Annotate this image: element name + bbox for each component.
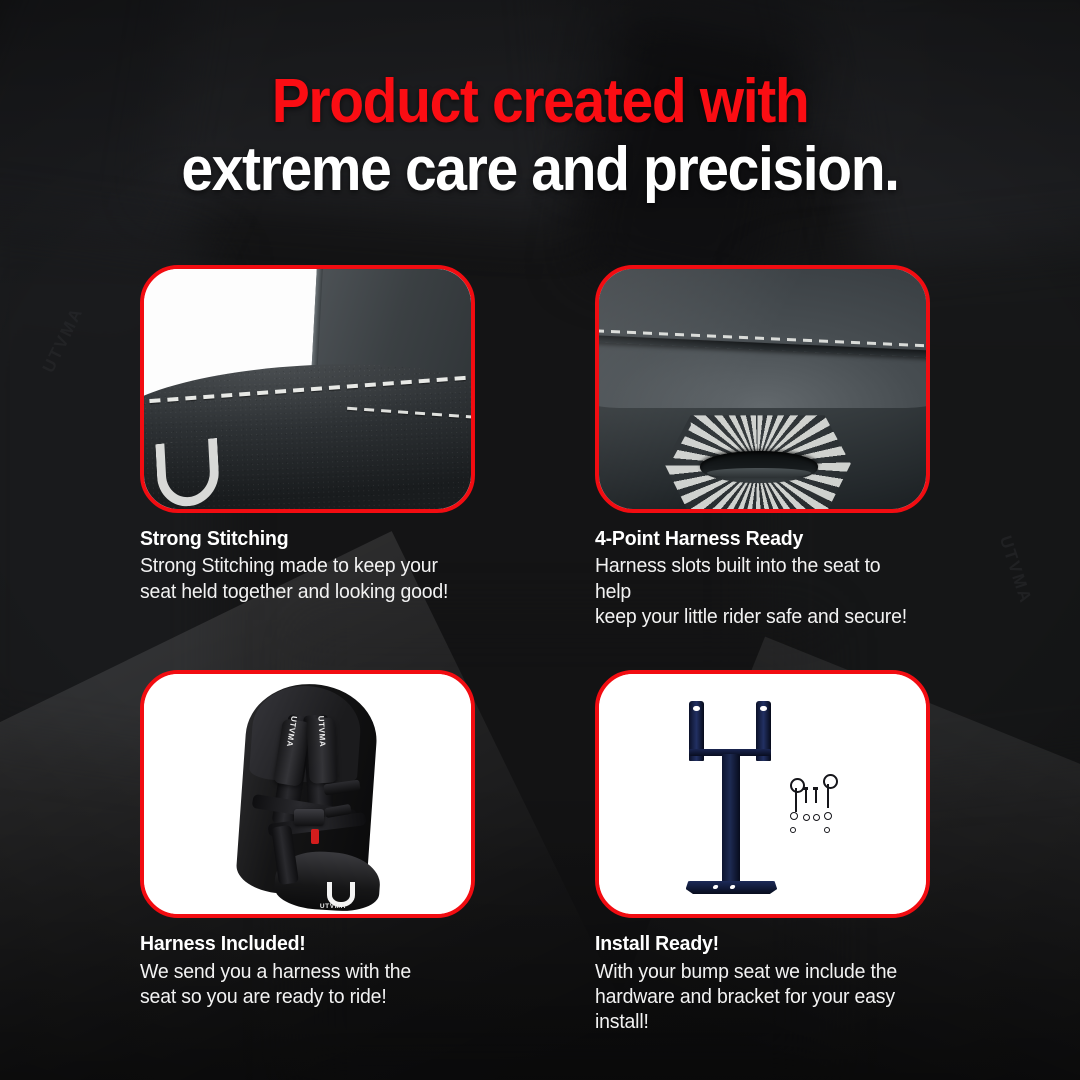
bracket-arm-hole [693,706,699,711]
headline-line-2: extreme care and precision. [43,140,1037,200]
feature-grid: Strong Stitching Strong Stitching made t… [140,265,940,1035]
feature-title: Install Ready! [595,932,913,956]
washer-icon [790,827,796,833]
feature-caption: Strong Stitching Strong Stitching made t… [140,527,475,604]
base-plate-hole [712,885,718,889]
seat-stitching-closeup-photo [144,269,471,509]
feature-body: Strong Stitching made to keep your seat … [140,553,458,604]
feature-card-install-ready: Install Ready! With your bump seat we in… [595,670,930,1034]
harness-release-tab [311,829,320,843]
bump-seat-with-harness-photo: UTVMA UTVMA UTVMA [144,674,471,914]
harness-pad-logo-text: UTVMA [316,716,327,748]
feature-card-harness-included: UTVMA UTVMA UTVMA Harness Included! We s [140,670,475,1034]
photo-sheen [599,269,926,509]
bracket-arm-hole [760,706,766,711]
feature-poster: UTVMA UTVMA Product created with extreme… [0,0,1080,1080]
headline-line-1: Product created with [43,72,1037,132]
feature-title: 4-Point Harness Ready [595,527,913,551]
feature-body: With your bump seat we include the hardw… [595,959,913,1035]
eyebolt-icon [790,778,801,812]
utvma-logo-text: UTVMA [320,903,346,910]
utvma-v-logo-icon [147,433,211,513]
base-plate-hole [729,885,735,889]
harness-slot-closeup-photo [599,269,926,509]
utvma-v-logo-icon: UTVMA [324,881,350,911]
feature-caption: Harness Included! We send you a harness … [140,932,475,1009]
feature-thumbnail[interactable] [595,265,930,513]
feature-thumbnail[interactable] [140,265,475,513]
mounting-bracket-hardware-photo [599,674,926,914]
bracket-post [722,754,740,888]
feature-card-strong-stitching: Strong Stitching Strong Stitching made t… [140,265,475,629]
feature-title: Harness Included! [140,932,458,956]
feature-thumbnail[interactable] [595,670,930,918]
feature-body: Harness slots built into the seat to hel… [595,553,913,629]
feature-card-harness-ready: 4-Point Harness Ready Harness slots buil… [595,265,930,629]
harness-buckle [294,809,323,826]
eyebolt-icon [823,774,834,808]
washer-icon [790,812,798,820]
washer-icon [813,814,820,821]
feature-body: We send you a harness with the seat so y… [140,959,458,1010]
feature-thumbnail[interactable]: UTVMA UTVMA UTVMA [140,670,475,918]
feature-caption: Install Ready! With your bump seat we in… [595,932,930,1034]
bracket-base-plate [686,881,778,894]
bolt-icon [813,787,818,803]
headline: Product created with extreme care and pr… [0,72,1080,199]
feature-caption: 4-Point Harness Ready Harness slots buil… [595,527,930,629]
washer-icon [803,814,810,821]
washer-icon [824,827,830,833]
bolt-icon [803,787,808,803]
washer-icon [824,812,832,820]
feature-title: Strong Stitching [140,527,458,551]
